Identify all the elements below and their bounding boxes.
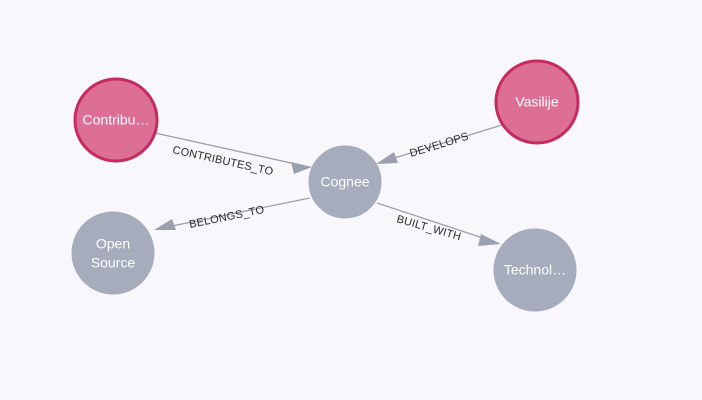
node-vasilije-label: Vasilije (515, 94, 559, 110)
node-open-source-label-line-1: Open (96, 236, 130, 252)
knowledge-graph[interactable]: CONTRIBUTES_TO DEVELOPS BELONGS_TO BUILT… (0, 0, 702, 400)
edge-contributes-to-label: CONTRIBUTES_TO (171, 144, 274, 178)
node-cognee-label: Cognee (320, 174, 369, 190)
node-open-source-circle[interactable] (72, 212, 154, 294)
edge-built-with[interactable]: BUILT_WITH (377, 203, 501, 246)
graph-canvas[interactable]: CONTRIBUTES_TO DEVELOPS BELONGS_TO BUILT… (0, 0, 702, 400)
node-group: Contribu… Vasilije Cognee Open Source (72, 61, 578, 311)
edge-develops[interactable]: DEVELOPS (376, 125, 502, 164)
node-technology-label: Technol… (504, 262, 566, 278)
edge-built-with-arrowhead (478, 234, 501, 246)
node-contributor-label: Contribu… (83, 112, 150, 128)
node-cognee[interactable]: Cognee (309, 146, 381, 218)
node-technology[interactable]: Technol… (494, 229, 576, 311)
edge-develops-arrowhead (376, 152, 398, 164)
node-open-source-label-line-2: Source (91, 255, 136, 271)
edge-contributes-to-arrowhead (291, 162, 312, 174)
node-open-source[interactable]: Open Source (72, 212, 154, 294)
edge-belongs-to-label: BELONGS_TO (188, 204, 265, 231)
node-contributor[interactable]: Contribu… (75, 79, 157, 161)
edge-contributes-to[interactable]: CONTRIBUTES_TO (155, 133, 312, 178)
node-vasilije[interactable]: Vasilije (496, 61, 578, 143)
edge-develops-label: DEVELOPS (408, 131, 470, 160)
edge-belongs-to-arrowhead (154, 219, 176, 230)
edge-built-with-label: BUILT_WITH (395, 213, 462, 243)
edge-belongs-to[interactable]: BELONGS_TO (154, 198, 310, 231)
